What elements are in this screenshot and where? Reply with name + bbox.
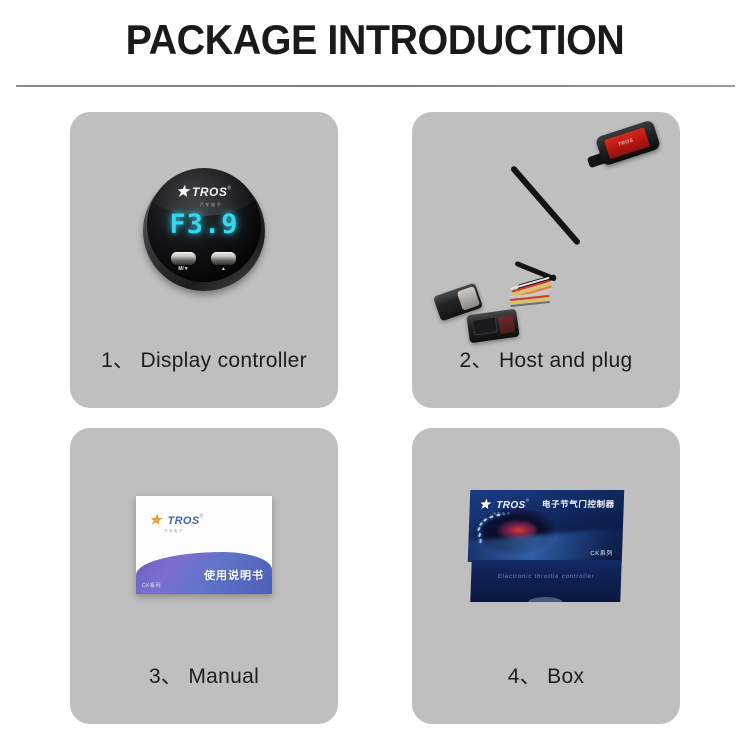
display-controller-device: TROS® 汽车电子 F3.9 M/▼ ▲ bbox=[143, 166, 265, 288]
controller-display-value: F3.9 bbox=[147, 209, 261, 240]
package-item-card-display-controller[interactable]: TROS® 汽车电子 F3.9 M/▼ ▲ 1、 Display control… bbox=[70, 112, 338, 408]
controller-mode-down-button[interactable] bbox=[171, 252, 196, 265]
box-brand-subtitle: 汽车电子 bbox=[492, 513, 528, 516]
retail-box: TROS® 汽车电子 电子节气门控制器 CK系列 Electronic thro… bbox=[469, 490, 623, 602]
host-red-label: TROS bbox=[604, 127, 650, 159]
package-item-card-manual[interactable]: TROS® 汽车电子 使用说明书 CK系列 3、 Manual bbox=[70, 428, 338, 724]
box-series-label: CK系列 bbox=[590, 548, 613, 557]
controller-brand-registered: ® bbox=[227, 186, 231, 192]
box-brand-logo: TROS® 汽车电子 bbox=[479, 496, 529, 516]
star-icon bbox=[150, 511, 167, 528]
page-header: PACKAGE INTRODUCTION bbox=[0, 0, 750, 92]
connector-secondary-slot bbox=[472, 317, 498, 336]
product-image-host-and-plug: TROS bbox=[412, 112, 680, 344]
controller-mode-down-label: M/▼ bbox=[171, 267, 196, 272]
product-image-box: TROS® 汽车电子 电子节气门控制器 CK系列 Electronic thro… bbox=[412, 428, 680, 660]
controller-up-label: ▲ bbox=[211, 267, 236, 272]
box-title-cn: 电子节气门控制器 bbox=[542, 498, 615, 510]
manual-brand-word: TROS bbox=[167, 515, 199, 527]
star-icon bbox=[177, 184, 191, 202]
controller-up-button[interactable] bbox=[211, 252, 236, 265]
manual-brand-registered: ® bbox=[200, 514, 204, 520]
manual-brand-logo: TROS® 汽车电子 bbox=[150, 512, 203, 534]
manual-brand-subtitle: 汽车电子 bbox=[164, 530, 203, 534]
box-thumb-notch bbox=[528, 597, 562, 602]
controller-face: TROS® 汽车电子 F3.9 M/▼ ▲ bbox=[147, 168, 261, 282]
host-module: TROS bbox=[595, 119, 661, 166]
package-item-caption-1: 1、 Display controller bbox=[70, 344, 338, 374]
product-image-display-controller: TROS® 汽车电子 F3.9 M/▼ ▲ bbox=[70, 112, 338, 344]
host-and-plug-assembly: TROS bbox=[412, 112, 680, 344]
package-item-caption-4: 4、 Box bbox=[412, 660, 680, 690]
package-item-caption-3: 3、 Manual bbox=[70, 660, 338, 690]
wiring-connector-secondary bbox=[466, 309, 519, 344]
star-icon bbox=[479, 495, 496, 512]
manual-booklet: TROS® 汽车电子 使用说明书 CK系列 bbox=[136, 496, 272, 594]
page-title: PACKAGE INTRODUCTION bbox=[23, 16, 728, 64]
box-front-face: Electronic throttle controller bbox=[470, 560, 621, 602]
wire-bundle-lower bbox=[509, 292, 550, 312]
controller-brand-logo: TROS® 汽车电子 bbox=[147, 184, 261, 207]
manual-title-cn: 使用说明书 bbox=[204, 567, 264, 583]
host-label-brand: TROS bbox=[617, 137, 634, 148]
manual-series-label: CK系列 bbox=[142, 582, 161, 589]
package-item-card-box[interactable]: TROS® 汽车电子 电子节气门控制器 CK系列 Electronic thro… bbox=[412, 428, 680, 724]
product-image-manual: TROS® 汽车电子 使用说明书 CK系列 bbox=[70, 428, 338, 660]
controller-brand-subtitle: 汽车电子 bbox=[161, 203, 261, 207]
main-cable bbox=[510, 165, 581, 246]
controller-brand-word: TROS bbox=[192, 186, 227, 198]
connector-secondary-latch bbox=[498, 315, 515, 334]
title-divider bbox=[16, 85, 735, 87]
package-item-card-host-and-plug[interactable]: TROS 2、 Host and plug bbox=[412, 112, 680, 408]
package-item-caption-2: 2、 Host and plug bbox=[412, 344, 680, 374]
box-top-face: TROS® 汽车电子 电子节气门控制器 CK系列 bbox=[468, 490, 625, 562]
box-brand-registered: ® bbox=[526, 498, 530, 503]
box-title-en: Electronic throttle controller bbox=[471, 574, 621, 580]
connector-primary-contact bbox=[457, 286, 481, 311]
package-items-grid: TROS® 汽车电子 F3.9 M/▼ ▲ 1、 Display control… bbox=[0, 112, 750, 718]
box-brand-word: TROS bbox=[496, 500, 526, 511]
